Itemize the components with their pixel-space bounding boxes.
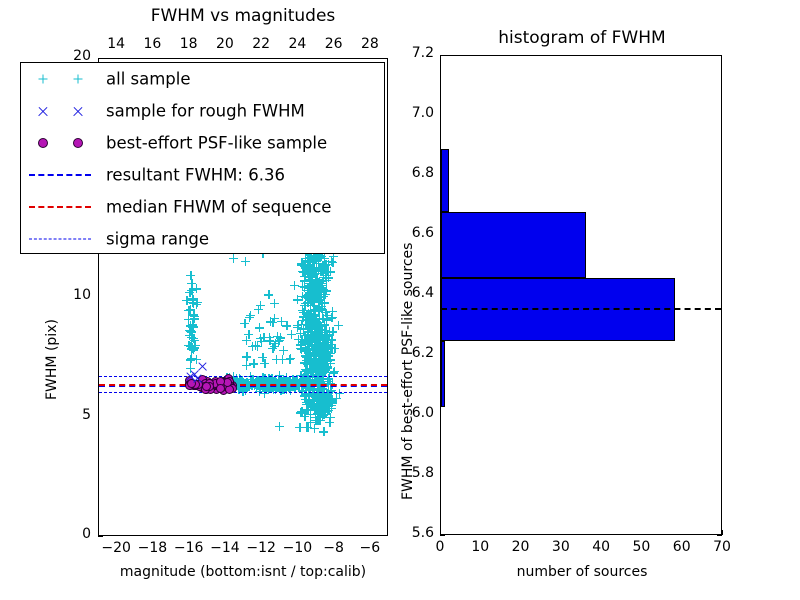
scatter-point-all-sample — [245, 313, 254, 322]
cross-x-icon — [38, 106, 48, 116]
scatter-point-all-sample — [286, 354, 295, 363]
scatter-point-all-sample — [186, 271, 195, 280]
legend-item-label: resultant FWHM: 6.36 — [106, 166, 285, 185]
scatter-point-all-sample — [296, 344, 305, 353]
scatter-point-all-sample — [256, 334, 265, 343]
scatter-point-all-sample — [229, 254, 238, 263]
scatter-point-rough-fwhm — [193, 374, 202, 383]
legend-box: all samplesample for rough FWHMbest-effo… — [20, 62, 385, 254]
scatter-point-all-sample — [193, 298, 202, 307]
scatter-point-all-sample — [328, 258, 337, 267]
scatter-point-all-sample — [306, 402, 315, 411]
scatter-point-all-sample — [187, 279, 196, 288]
scatter-point-all-sample — [303, 360, 312, 369]
cross-x-icon-slot — [38, 106, 48, 116]
top-tick-label: 24 — [277, 36, 317, 52]
scatter-point-all-sample — [258, 373, 267, 382]
legend-item: sigma range — [21, 223, 384, 255]
left-chart-xlabel: magnitude (bottom:isnt / top:calib) — [100, 564, 386, 580]
top-tick-label: 18 — [169, 36, 209, 52]
scatter-point-all-sample — [326, 413, 335, 422]
legend-item-label: sample for rough FWHM — [106, 102, 305, 121]
scatter-point-all-sample — [298, 316, 307, 325]
scatter-point-all-sample — [264, 290, 273, 299]
hist-y-tick-label: 7.2 — [398, 45, 434, 61]
legend-item-label: all sample — [106, 70, 191, 89]
scatter-point-all-sample — [279, 346, 288, 355]
plus-icon — [74, 75, 83, 84]
legend-item-label: median FHWM of sequence — [106, 198, 331, 217]
scatter-point-all-sample — [270, 299, 279, 308]
scatter-point-all-sample — [313, 394, 322, 403]
hist-y-tick-mark-right — [717, 535, 722, 536]
hist-y-tick-label: 6.8 — [398, 165, 434, 181]
legend-item: best-effort PSF-like sample — [21, 127, 384, 159]
plus-icon-slot — [74, 75, 83, 84]
scatter-point-all-sample — [282, 321, 291, 330]
cross-x-icon-slot — [73, 106, 83, 116]
top-tick-label: 16 — [132, 36, 172, 52]
scatter-point-all-sample — [310, 295, 319, 304]
scatter-point-all-sample — [275, 422, 284, 431]
hist-x-tick-label: 40 — [581, 539, 621, 555]
cross-x-icon — [73, 106, 83, 116]
left-chart-ylabel: FWHM (pix) — [44, 319, 60, 400]
dash-dot-line-icon — [29, 239, 91, 240]
scatter-point-all-sample — [310, 424, 319, 433]
hist-x-tick-label: 0 — [420, 539, 460, 555]
hist-y-tick-mark — [440, 535, 445, 536]
dashed-line-icon — [29, 174, 91, 176]
plus-icon-slot — [39, 75, 48, 84]
right-chart-title: histogram of FWHM — [441, 28, 723, 48]
scatter-point-all-sample — [324, 273, 333, 282]
hist-x-tick-mark — [722, 530, 723, 535]
filled-circle-icon — [38, 138, 48, 148]
hist-x-tick-label: 70 — [702, 539, 742, 555]
right-chart-plot-frame — [440, 55, 722, 535]
legend-item: all sample — [21, 63, 384, 95]
reference-line-resultant-fwhm — [441, 308, 721, 310]
right-chart-plot-area — [441, 56, 721, 534]
filled-circle-icon — [73, 138, 83, 148]
hist-x-tick-label: 30 — [541, 539, 581, 555]
histogram-bar — [441, 341, 445, 407]
scatter-point-all-sample — [260, 359, 269, 368]
dashed-line-icon — [29, 206, 91, 208]
top-tick-label: 14 — [96, 36, 136, 52]
legend-item: sample for rough FWHM — [21, 95, 384, 127]
top-tick-label: 20 — [205, 36, 245, 52]
hist-y-tick-label: 6.6 — [398, 225, 434, 241]
legend-item-label: best-effort PSF-like sample — [106, 134, 327, 153]
scatter-point-all-sample — [315, 314, 324, 323]
y-tick-label: 5 — [58, 407, 91, 423]
legend-item: resultant FWHM: 6.36 — [21, 159, 384, 191]
x-tick-label: −6 — [348, 540, 392, 556]
scatter-point-all-sample — [189, 322, 198, 331]
reference-line-sigma-range-upper — [99, 376, 387, 377]
top-tick-label: 22 — [241, 36, 281, 52]
scatter-point-all-sample — [294, 335, 303, 344]
scatter-point-all-sample — [268, 344, 277, 353]
scatter-point-all-sample — [314, 331, 323, 340]
hist-x-tick-label: 10 — [460, 539, 500, 555]
scatter-point-all-sample — [335, 389, 344, 398]
top-tick-label: 28 — [350, 36, 390, 52]
scatter-point-all-sample — [334, 321, 343, 330]
y-tick-mark — [98, 536, 103, 537]
y-tick-label: 10 — [58, 287, 91, 303]
reference-line-sigma-range-lower — [99, 392, 387, 393]
legend-item-label: sigma range — [106, 230, 209, 249]
scatter-point-all-sample — [186, 355, 195, 364]
hist-x-tick-label: 60 — [662, 539, 702, 555]
hist-x-tick-label: 20 — [501, 539, 541, 555]
histogram-bar — [441, 149, 449, 212]
y-tick-label: 0 — [58, 526, 91, 542]
plus-icon — [39, 75, 48, 84]
legend-item: median FHWM of sequence — [21, 191, 384, 223]
scatter-point-rough-fwhm — [198, 362, 207, 371]
scatter-point-all-sample — [254, 305, 263, 314]
filled-circle-icon-slot — [73, 138, 83, 148]
top-tick-label: 26 — [314, 36, 354, 52]
scatter-point-all-sample — [319, 427, 328, 436]
hist-y-tick-label: 7.0 — [398, 105, 434, 121]
scatter-point-all-sample — [272, 355, 281, 364]
scatter-point-all-sample — [290, 281, 299, 290]
figure-canvas: FWHM vs magnitudes 1416182022242628 −20−… — [0, 0, 800, 600]
scatter-point-all-sample — [241, 257, 250, 266]
scatter-point-all-sample — [315, 281, 324, 290]
scatter-point-all-sample — [189, 345, 198, 354]
scatter-point-all-sample — [255, 323, 264, 332]
scatter-point-all-sample — [311, 356, 320, 365]
scatter-point-all-sample — [282, 373, 291, 382]
scatter-point-all-sample — [321, 345, 330, 354]
scatter-point-all-sample — [242, 336, 251, 345]
histogram-bar — [441, 212, 586, 278]
scatter-point-all-sample — [276, 333, 285, 342]
scatter-point-all-sample — [242, 352, 251, 361]
hist-x-tick-label: 50 — [621, 539, 661, 555]
left-chart-title: FWHM vs magnitudes — [100, 6, 386, 26]
filled-circle-icon-slot — [38, 138, 48, 148]
right-chart-xlabel: number of sources — [441, 564, 723, 580]
hist-y-tick-label: 5.6 — [398, 525, 434, 541]
reference-line-median-fhwm-of-sequence — [99, 384, 387, 386]
right-chart-ylabel: FWHM of best-effort PSF-like sources — [400, 243, 416, 500]
scatter-point-all-sample — [323, 355, 332, 364]
scatter-point-all-sample — [305, 261, 314, 270]
scatter-point-all-sample — [305, 279, 314, 288]
